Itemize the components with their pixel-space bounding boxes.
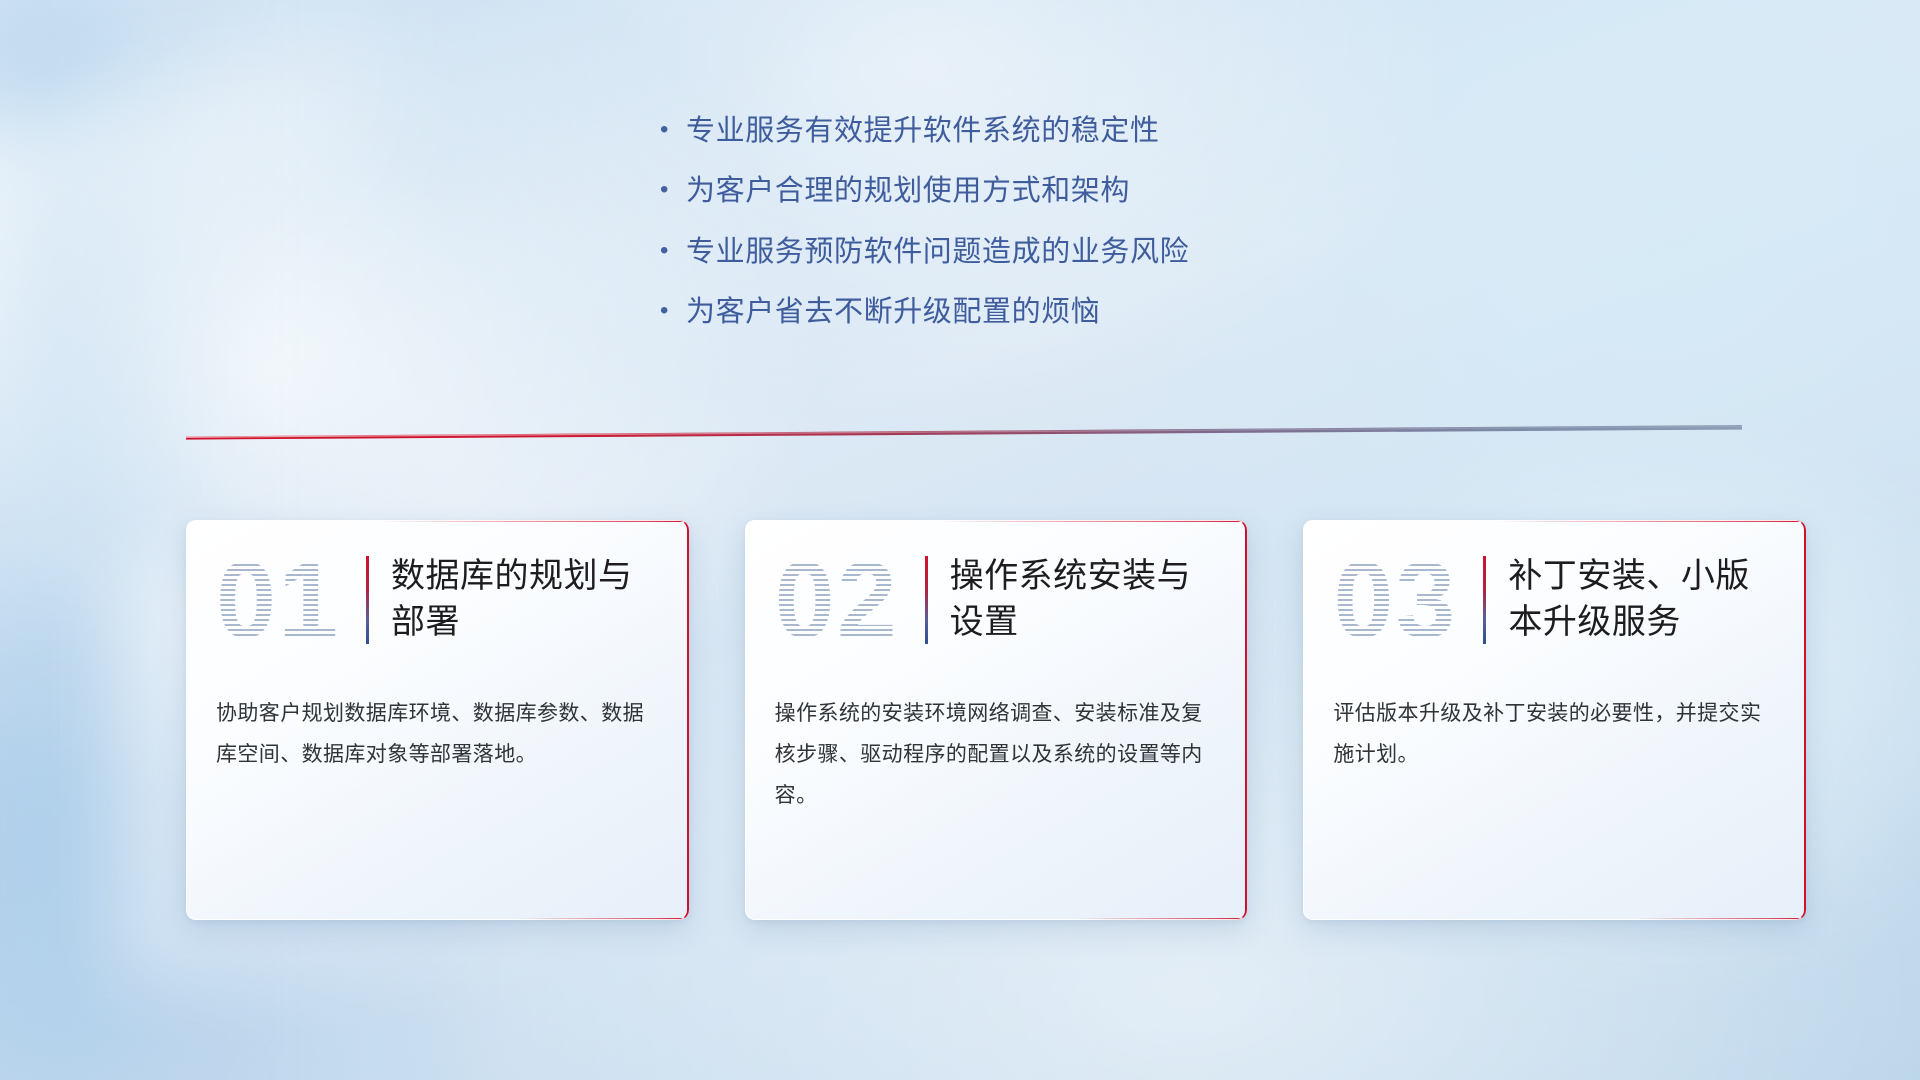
divider-wedge-shape (186, 425, 1742, 443)
bullet-label: 为客户合理的规划使用方式和架构 (686, 172, 1130, 210)
service-card[interactable]: 03 补丁安装、小版本升级服务 评估版本升级及补丁安装的必要性，并提交实施计划。 (1303, 520, 1806, 920)
bullet-label: 专业服务预防软件问题造成的业务风险 (686, 233, 1189, 271)
card-number-watermark: 03 (1333, 544, 1483, 656)
card-accent-bottom (1635, 918, 1806, 920)
service-card[interactable]: 02 操作系统安装与设置 操作系统的安装环境网络调查、安装标准及复核步骤、驱动程… (745, 520, 1248, 920)
card-number-watermark: 01 (216, 544, 366, 656)
bullet-marker-icon (660, 299, 686, 323)
card-number-watermark: 02 (775, 544, 925, 656)
card-title-divider (925, 556, 928, 644)
card-title-divider (366, 556, 369, 644)
card-title-divider (1483, 556, 1486, 644)
card-accent-bottom (1076, 918, 1247, 920)
bullet-label: 为客户省去不断升级配置的烦恼 (686, 293, 1100, 331)
card-title: 操作系统安装与设置 (950, 554, 1222, 645)
bullet-marker-icon (660, 239, 686, 263)
bullet-item: 为客户省去不断升级配置的烦恼 (660, 293, 1440, 331)
card-accent-bottom (518, 918, 689, 920)
slide-canvas: 专业服务有效提升软件系统的稳定性 为客户合理的规划使用方式和架构 专业服务预防软… (0, 0, 1920, 1080)
card-title: 补丁安装、小版本升级服务 (1508, 554, 1780, 645)
card-title: 数据库的规划与部署 (391, 554, 663, 645)
card-description: 协助客户规划数据库环境、数据库参数、数据库空间、数据库对象等部署落地。 (186, 680, 689, 806)
bullet-label: 专业服务有效提升软件系统的稳定性 (686, 112, 1160, 150)
card-header: 01 数据库的规划与部署 (186, 520, 689, 680)
service-card[interactable]: 01 数据库的规划与部署 协助客户规划数据库环境、数据库参数、数据库空间、数据库… (186, 520, 689, 920)
card-header: 03 补丁安装、小版本升级服务 (1303, 520, 1806, 680)
card-header: 02 操作系统安装与设置 (745, 520, 1248, 680)
bullet-item: 专业服务预防软件问题造成的业务风险 (660, 233, 1440, 271)
section-divider (186, 425, 1742, 443)
bullet-item: 为客户合理的规划使用方式和架构 (660, 172, 1440, 210)
bullet-marker-icon (660, 178, 686, 202)
bullet-item: 专业服务有效提升软件系统的稳定性 (660, 112, 1440, 150)
card-description: 操作系统的安装环境网络调查、安装标准及复核步骤、驱动程序的配置以及系统的设置等内… (745, 680, 1248, 847)
benefits-bullet-list: 专业服务有效提升软件系统的稳定性 为客户合理的规划使用方式和架构 专业服务预防软… (660, 112, 1440, 353)
bullet-marker-icon (660, 118, 686, 142)
card-description: 评估版本升级及补丁安装的必要性，并提交实施计划。 (1303, 680, 1806, 806)
service-card-list: 01 数据库的规划与部署 协助客户规划数据库环境、数据库参数、数据库空间、数据库… (186, 520, 1806, 920)
